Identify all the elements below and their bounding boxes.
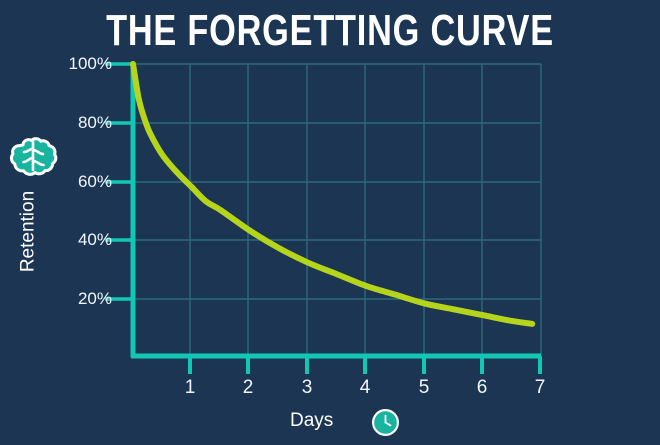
- y-tick-label-100: 100%: [40, 55, 112, 72]
- x-axis-title: Days: [290, 411, 333, 430]
- y-tick-label-40: 40%: [40, 231, 112, 248]
- clock-icon: [371, 408, 400, 437]
- gridlines-vertical: [190, 64, 541, 357]
- x-tick-label-5: 5: [409, 378, 439, 397]
- y-tick-label-100-wrap: 100%: [0, 55, 112, 72]
- x-axis-ticks: [190, 356, 540, 374]
- x-tick-label-3: 3: [292, 378, 322, 397]
- y-tick-label-20: 20%: [40, 290, 112, 307]
- x-tick-label-6: 6: [467, 378, 497, 397]
- brain-icon: [9, 136, 59, 180]
- y-tick-label-80: 80%: [40, 114, 112, 131]
- forgetting-curve-infographic: THE FORGETTING CURVE: [0, 0, 660, 445]
- y-tick-label-80-wrap: 80%: [0, 114, 112, 131]
- y-tick-label-20-wrap: 20%: [0, 290, 112, 307]
- x-tick-label-7: 7: [525, 378, 555, 397]
- x-tick-label-1: 1: [175, 378, 205, 397]
- x-tick-label-4: 4: [350, 378, 380, 397]
- gridlines-horizontal: [131, 64, 541, 299]
- x-tick-label-2: 2: [233, 378, 263, 397]
- forgetting-curve-line: [133, 64, 532, 324]
